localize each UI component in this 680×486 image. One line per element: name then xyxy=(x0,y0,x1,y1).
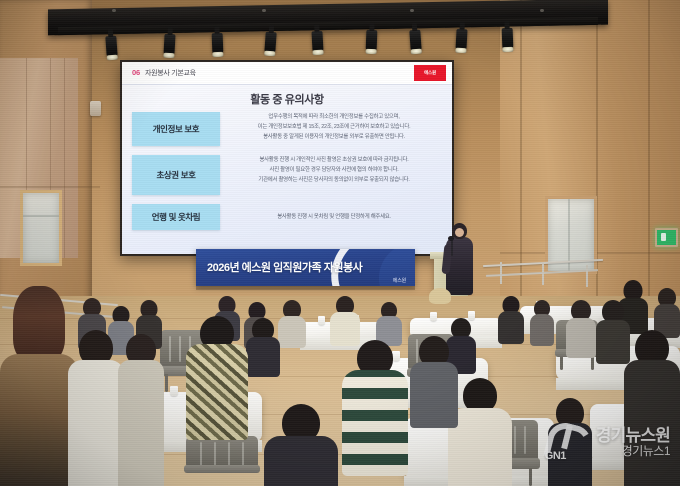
attendee xyxy=(186,316,248,436)
wall-seam xyxy=(0,186,100,188)
slide-row-body: 봉사활동 진행 시 옷차림 및 언행을 단정하게 해주세요. xyxy=(220,204,442,223)
wall-seam xyxy=(520,0,522,320)
stage-light xyxy=(409,30,421,52)
banner-sponsor: 에스원 xyxy=(393,277,406,284)
banner-title: 2026년 에스원 임직원가족 자원봉사 xyxy=(207,259,362,275)
slide-row: 개인정보 보호 업무수행의 목적에 따라 최소한의 개인정보를 수집하고 있으며… xyxy=(132,112,442,146)
attendee xyxy=(118,334,164,486)
presentation-slide: 06 자원봉사 기본교육 에스원 활동 중 유의사항 개인정보 보호 업무수행의… xyxy=(122,62,452,254)
watermark: GN1 경기뉴스원 경기뉴스1 xyxy=(544,422,670,462)
stage-light xyxy=(163,34,175,56)
attendee xyxy=(0,286,78,486)
slide-row-line: 봉사활동 진행 시 개인적인 사진 촬영은 초상권 보호에 따라 금지됩니다. xyxy=(230,156,438,164)
slide-row: 초상권 보호 봉사활동 진행 시 개인적인 사진 촬영은 초상권 보호에 따라 … xyxy=(132,155,442,195)
attendee xyxy=(68,330,124,486)
stage-light xyxy=(502,28,514,49)
slide-header-label: 자원봉사 기본교육 xyxy=(145,68,196,78)
attendee xyxy=(566,300,596,354)
slide-row-chip: 언행 및 옷차림 xyxy=(132,204,220,230)
attendee xyxy=(624,330,680,486)
stage-light xyxy=(311,31,323,53)
attendee xyxy=(376,302,402,344)
company-logo-text: 에스원 xyxy=(424,70,436,76)
slide-row: 언행 및 옷차림 봉사활동 진행 시 옷차림 및 언행을 단정하게 해주세요. xyxy=(132,204,442,230)
slide-row-chip: 초상권 보호 xyxy=(132,155,220,195)
stage-light xyxy=(212,33,224,54)
attendee-child xyxy=(428,288,452,312)
stage-light xyxy=(264,32,276,54)
slide-title: 활동 중 유의사항 xyxy=(122,91,452,107)
attendee xyxy=(410,336,458,422)
photo-scene: 06 자원봉사 기본교육 에스원 활동 중 유의사항 개인정보 보호 업무수행의… xyxy=(0,0,680,486)
attendee xyxy=(330,296,360,344)
attendee xyxy=(342,340,408,472)
slide-header-number: 06 xyxy=(132,68,140,77)
slide-row-body: 봉사활동 진행 시 개인적인 사진 촬영은 초상권 보호에 따라 금지됩니다. … xyxy=(220,155,442,186)
watermark-sub-text: 경기뉴스1 xyxy=(622,445,670,458)
wall-seam xyxy=(648,0,650,300)
stage-light xyxy=(366,30,378,51)
window-left xyxy=(20,190,62,266)
attendee xyxy=(264,404,338,486)
attendee xyxy=(278,300,306,346)
projection-screen: 06 자원봉사 기본교육 에스원 활동 중 유의사항 개인정보 보호 업무수행의… xyxy=(120,60,454,256)
gn1-logo-icon: GN1 xyxy=(544,422,590,462)
exit-sign-icon xyxy=(655,228,678,247)
gn1-logo-text: GN1 xyxy=(545,450,566,462)
watermark-main-text: 경기뉴스원 xyxy=(596,427,670,445)
slide-content-rows: 개인정보 보호 업무수행의 목적에 따라 최소한의 개인정보를 수집하고 있으며… xyxy=(132,112,442,239)
stage-banner: 2026년 에스원 임직원가족 자원봉사 에스원 xyxy=(196,249,415,286)
slide-row-body: 업무수행의 목적에 따라 최소한의 개인정보를 수집하고 있으며, 이는 개인정… xyxy=(220,112,442,143)
company-logo: 에스원 xyxy=(414,65,446,81)
slide-row-line: 이는 개인정보보호법 제 15조, 22조, 23조에 근거하여 보호하고 있습… xyxy=(230,123,438,131)
slide-row-line: 업무수행의 목적에 따라 최소한의 개인정보를 수집하고 있으며, xyxy=(230,113,438,121)
stage-light xyxy=(105,36,117,58)
attendee xyxy=(246,318,280,374)
slide-row-line: 기관에서 촬영하는 사진은 당사자의 동의없이 외부로 유출되지 않습니다. xyxy=(230,176,438,184)
slide-row-line: 사진 촬영이 필요한 경우 담당자와 사전에 협의 하여야 합니다. xyxy=(230,166,438,174)
slide-row-line: 봉사활동 진행 시 옷차림 및 언행을 단정하게 해주세요. xyxy=(230,213,438,221)
attendee xyxy=(654,288,680,336)
right-wall-panel xyxy=(500,0,680,330)
wall-speaker xyxy=(90,101,101,116)
slide-row-chip: 개인정보 보호 xyxy=(132,112,220,146)
banner-rail xyxy=(196,286,415,290)
attendee xyxy=(530,300,554,344)
attendee xyxy=(498,296,524,342)
microphone-stand xyxy=(451,240,453,256)
microphone-icon xyxy=(448,236,454,241)
stage-light xyxy=(455,29,467,51)
slide-row-line: 봉사활동 중 알게된 이용자의 개인정보를 외부로 유출하면 안됩니다. xyxy=(230,133,438,141)
chair xyxy=(186,436,258,486)
presenter-face xyxy=(455,228,464,237)
slide-header-bar: 06 자원봉사 기본교육 에스원 xyxy=(122,62,452,85)
